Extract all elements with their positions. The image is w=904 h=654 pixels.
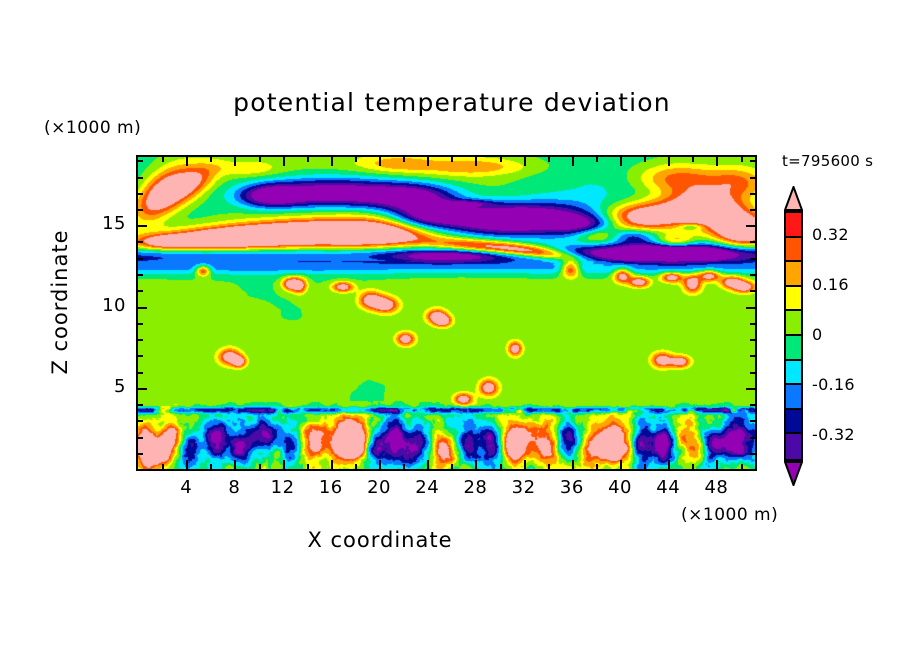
y-tick-label: 5 (96, 376, 126, 397)
y-tick (750, 437, 755, 439)
y-tick (750, 258, 755, 260)
colorbar-tick-label: -0.32 (812, 425, 855, 444)
x-tick (331, 157, 333, 166)
colorbar-band (786, 213, 801, 238)
x-tick (331, 460, 333, 469)
y-tick (750, 177, 755, 179)
y-tick (138, 193, 143, 195)
x-tick (427, 460, 429, 469)
x-tick (524, 460, 526, 469)
y-tick (138, 323, 143, 325)
x-tick (403, 464, 405, 469)
y-tick (138, 290, 143, 292)
y-axis-title: Z coordinate (48, 212, 72, 392)
y-tick (750, 241, 755, 243)
x-tick (644, 157, 646, 162)
x-tick (596, 157, 598, 162)
y-tick (138, 404, 143, 406)
x-tick-label: 20 (359, 477, 399, 498)
x-tick (572, 460, 574, 469)
x-tick (259, 464, 261, 469)
colorbar-band (786, 434, 801, 459)
y-tick (138, 420, 143, 422)
y-tick (750, 339, 755, 341)
x-tick (234, 460, 236, 469)
colorbar-tick-label: -0.16 (812, 375, 855, 394)
y-tick (750, 209, 755, 211)
x-tick (210, 157, 212, 162)
y-tick (750, 453, 755, 455)
y-tick (138, 274, 143, 276)
x-tick (668, 460, 670, 469)
x-tick (524, 157, 526, 166)
x-tick (548, 464, 550, 469)
x-tick-label: 12 (263, 477, 303, 498)
x-tick (307, 464, 309, 469)
colorbar-band (786, 385, 801, 410)
y-tick (138, 241, 143, 243)
x-tick (186, 460, 188, 469)
x-tick (596, 464, 598, 469)
x-tick (355, 157, 357, 162)
y-tick (138, 372, 143, 374)
y-tick (750, 160, 755, 162)
x-tick (162, 157, 164, 162)
x-tick (548, 157, 550, 162)
x-tick (692, 464, 694, 469)
x-tick (475, 157, 477, 166)
colorbar-band (786, 287, 801, 312)
y-tick (750, 290, 755, 292)
y-tick (138, 225, 147, 227)
colorbar-tick-label: 0.32 (812, 225, 849, 244)
x-tick (451, 464, 453, 469)
x-tick (186, 157, 188, 166)
y-tick (138, 160, 143, 162)
y-tick (138, 258, 143, 260)
x-tick (403, 157, 405, 162)
x-tick-label: 40 (600, 477, 640, 498)
x-axis-title: X coordinate (0, 528, 760, 552)
x-tick (500, 157, 502, 162)
y-tick (750, 420, 755, 422)
chart-title: potential temperature deviation (0, 88, 904, 117)
colorbar-band (786, 336, 801, 361)
y-tick (746, 307, 755, 309)
y-tick (138, 209, 143, 211)
colorbar-cap-bottom (784, 461, 803, 486)
x-tick-label: 36 (552, 477, 592, 498)
y-tick (138, 307, 147, 309)
x-tick (283, 157, 285, 166)
y-tick (750, 193, 755, 195)
x-tick (355, 464, 357, 469)
x-tick (500, 464, 502, 469)
y-axis-unit-label: (×1000 m) (44, 118, 141, 138)
y-tick (138, 177, 143, 179)
y-tick (750, 323, 755, 325)
x-tick (234, 157, 236, 166)
x-tick (307, 157, 309, 162)
colorbar-band (786, 410, 801, 435)
x-tick (716, 157, 718, 166)
x-tick (379, 157, 381, 166)
x-tick-label: 44 (648, 477, 688, 498)
colorbar-band (786, 238, 801, 263)
x-tick (668, 157, 670, 166)
x-tick (475, 460, 477, 469)
x-tick (620, 157, 622, 166)
y-tick (746, 225, 755, 227)
y-tick (750, 355, 755, 357)
x-tick (716, 460, 718, 469)
x-tick (741, 464, 743, 469)
colorbar-band (786, 311, 801, 336)
y-tick (138, 388, 147, 390)
x-tick (283, 460, 285, 469)
colorbar-band (786, 361, 801, 386)
y-tick (750, 372, 755, 374)
x-tick (692, 157, 694, 162)
x-tick-label: 8 (214, 477, 254, 498)
x-tick (427, 157, 429, 166)
time-annotation: t=795600 s (782, 152, 873, 170)
x-tick-label: 4 (166, 477, 206, 498)
x-tick-label: 32 (504, 477, 544, 498)
x-tick-label: 24 (407, 477, 447, 498)
x-tick (620, 460, 622, 469)
x-tick (162, 464, 164, 469)
x-axis-unit-label: (×1000 m) (681, 505, 778, 525)
y-tick (750, 404, 755, 406)
y-tick-label: 10 (96, 295, 126, 316)
colorbar-tick-label: 0.16 (812, 275, 849, 294)
x-tick (259, 157, 261, 162)
contour-plot-area (136, 155, 757, 471)
x-tick (741, 157, 743, 162)
y-tick (750, 274, 755, 276)
x-tick-label: 48 (696, 477, 736, 498)
y-tick-label: 15 (96, 213, 126, 234)
x-tick (379, 460, 381, 469)
x-tick-label: 28 (455, 477, 495, 498)
y-tick (746, 388, 755, 390)
x-tick-label: 16 (311, 477, 351, 498)
x-tick (572, 157, 574, 166)
colorbar-tick-label: 0 (812, 325, 822, 344)
y-tick (138, 339, 143, 341)
colorbar-cap-top (784, 186, 803, 211)
x-tick (451, 157, 453, 162)
x-tick (210, 464, 212, 469)
contour-field (138, 157, 755, 469)
colorbar (784, 211, 803, 461)
y-tick (138, 437, 143, 439)
colorbar-band (786, 262, 801, 287)
x-tick (644, 464, 646, 469)
y-tick (138, 453, 143, 455)
y-tick (138, 355, 143, 357)
